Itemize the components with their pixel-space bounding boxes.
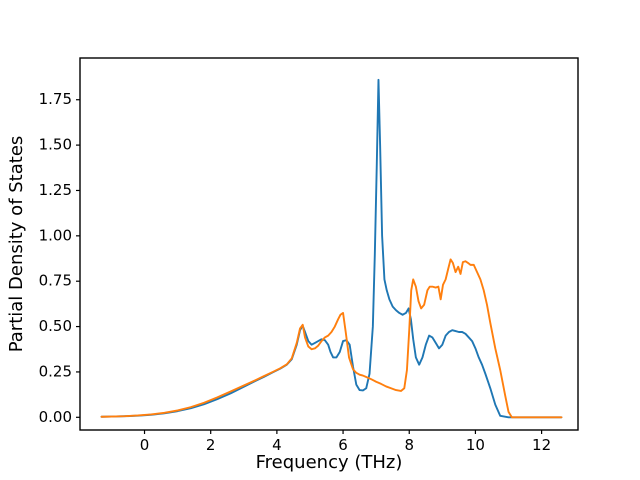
- x-tick-label: 12: [532, 436, 551, 454]
- y-tick-label: 0.25: [39, 362, 72, 380]
- partial-density-of-states-chart: 024681012 0.000.250.500.751.001.251.501.…: [0, 0, 640, 480]
- x-axis-title: Frequency (THz): [256, 452, 403, 473]
- y-tick-label: 0.50: [39, 317, 72, 335]
- x-tick-label: 10: [466, 436, 485, 454]
- y-axis-title: Partial Density of States: [6, 136, 27, 353]
- y-tick-label: 1.75: [39, 90, 72, 108]
- figure-canvas: 024681012 0.000.250.500.751.001.251.501.…: [0, 0, 640, 480]
- x-tick-label: 2: [206, 436, 216, 454]
- y-tick-label: 0.75: [39, 272, 72, 290]
- x-tick-label: 0: [140, 436, 150, 454]
- y-tick-label: 1.25: [39, 181, 72, 199]
- y-tick-label: 0.00: [39, 408, 72, 426]
- y-tick-label: 1.00: [39, 226, 72, 244]
- y-tick-label: 1.50: [39, 136, 72, 154]
- x-tick-label: 8: [404, 436, 414, 454]
- figure-background: [0, 0, 640, 480]
